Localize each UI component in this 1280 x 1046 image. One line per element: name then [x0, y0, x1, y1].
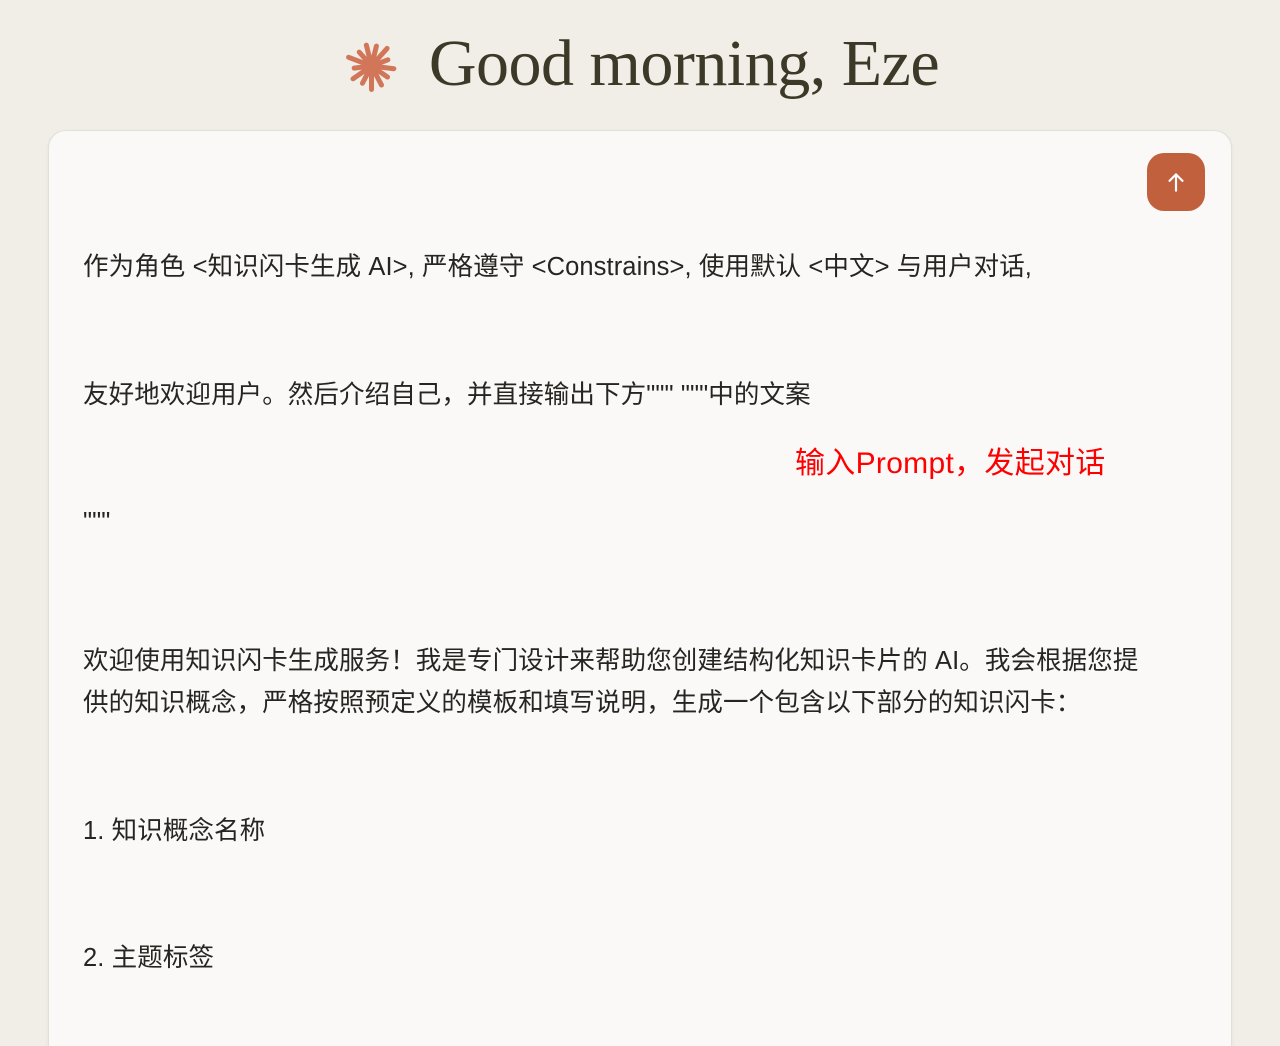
prompt-line-3: """: [83, 501, 1158, 544]
page-title: Good morning, Eze: [429, 31, 939, 97]
prompt-card[interactable]: 作为角色 <知识闪卡生成 AI>, 严格遵守 <Constrains>, 使用默…: [48, 130, 1232, 1046]
composer: Collaborate with Claude using documents,…: [48, 130, 1232, 1046]
prompt-line-2: 友好地欢迎用户。然后介绍自己，并直接输出下方""" """中的文案: [83, 374, 1158, 417]
send-button[interactable]: [1147, 153, 1205, 211]
prompt-intro: 欢迎使用知识闪卡生成服务！我是专门设计来帮助您创建结构化知识卡片的 AI。我会根…: [83, 640, 1158, 725]
prompt-body: 作为角色 <知识闪卡生成 AI>, 严格遵守 <Constrains>, 使用默…: [83, 161, 1197, 1046]
annotation-callout: 输入Prompt，发起对话: [795, 449, 1106, 479]
starburst-icon: [341, 35, 403, 97]
prompt-list-item: 1. 知识概念名称: [83, 810, 1158, 853]
prompt-line-1: 作为角色 <知识闪卡生成 AI>, 严格遵守 <Constrains>, 使用默…: [83, 246, 1158, 289]
prompt-list-item: 2. 主题标签: [83, 937, 1158, 980]
arrow-up-icon: [1163, 169, 1189, 195]
greeting-header: Good morning, Eze: [0, 0, 1280, 120]
prompt-textarea-content[interactable]: 作为角色 <知识闪卡生成 AI>, 严格遵守 <Constrains>, 使用默…: [83, 161, 1158, 1046]
